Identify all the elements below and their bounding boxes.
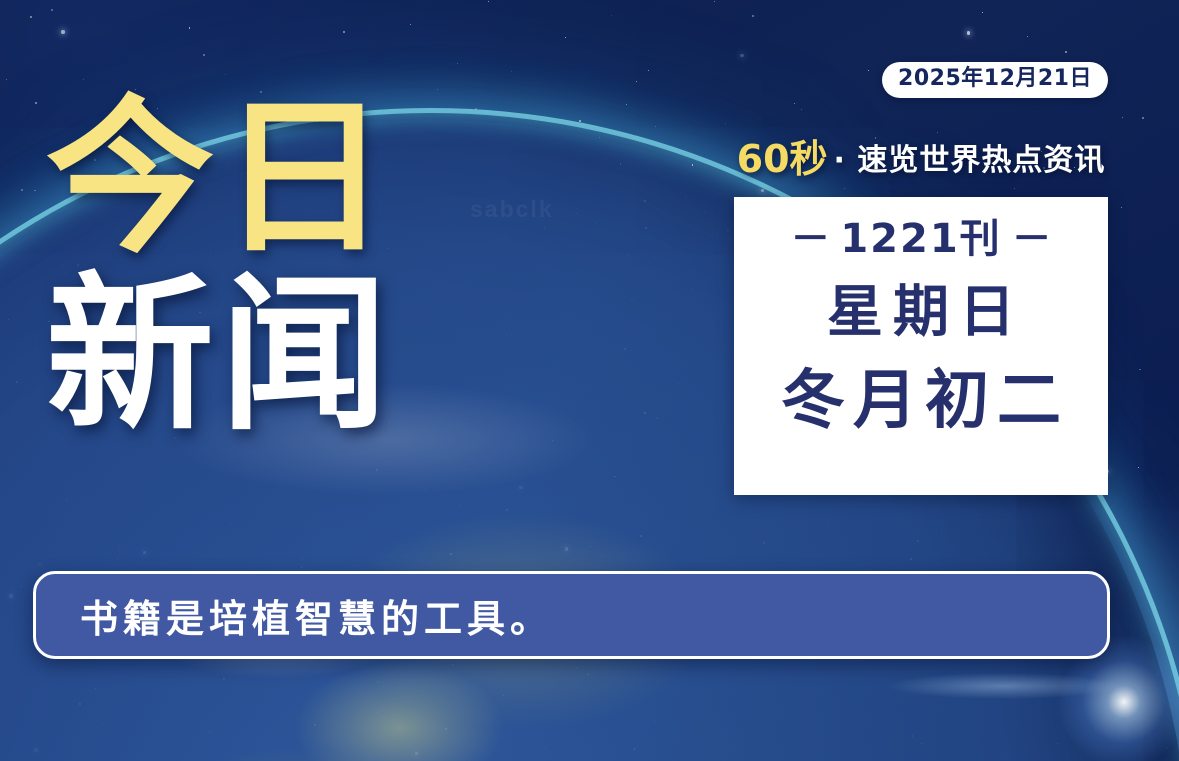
page-title: 今日 新闻 (46, 96, 394, 437)
lunar-date-label: 冬月初二 (773, 369, 1069, 433)
tagline-duration: 60秒 (737, 137, 828, 181)
tagline-description: · 速览世界热点资讯 (834, 143, 1106, 178)
issue-number-row: －1221刊－ (780, 219, 1061, 259)
quote-bar: 书籍是培植智慧的工具。 (33, 571, 1110, 659)
issue-number: 1221刊 (840, 216, 1001, 262)
date-badge: 2025年12月21日 (882, 62, 1108, 98)
news-poster: sabclk 今日 新闻 2025年12月21日 60秒· 速览世界热点资讯 －… (0, 0, 1179, 761)
weekday-label: 星期日 (817, 285, 1025, 341)
title-line-news: 新闻 (46, 273, 394, 438)
issue-card: －1221刊－ 星期日 冬月初二 (734, 197, 1108, 495)
tagline: 60秒· 速览世界热点资讯 (734, 128, 1108, 183)
right-column: 2025年12月21日 60秒· 速览世界热点资讯 －1221刊－ 星期日 冬月… (734, 62, 1108, 495)
dash-left-decor: － (790, 216, 830, 262)
dash-right-decor: － (1012, 216, 1052, 262)
quote-text: 书籍是培植智慧的工具。 (80, 588, 553, 643)
title-line-today: 今日 (46, 96, 394, 261)
